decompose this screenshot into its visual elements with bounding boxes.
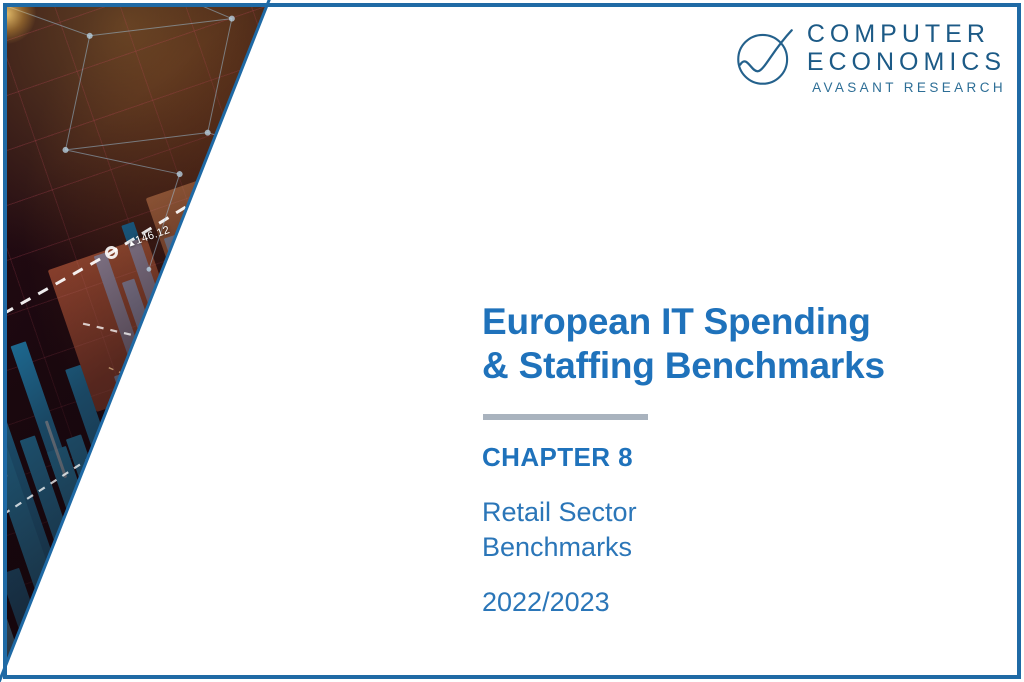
page-title-line-1: European IT Spending xyxy=(482,301,871,342)
circle-checkmark-icon xyxy=(731,25,797,91)
page-title-line-2: & Staffing Benchmarks xyxy=(482,345,885,386)
logo-line-economics: ECONOMICS xyxy=(807,50,1006,75)
chapter-label: CHAPTER 8 xyxy=(482,442,982,473)
triangle-up-icon: ▲ xyxy=(296,247,308,259)
triangle-up-icon: ▲ xyxy=(236,221,248,233)
title-divider xyxy=(483,414,648,420)
artwork-annotation: ▲4.58 xyxy=(354,186,386,206)
artwork-glow xyxy=(238,220,294,276)
page-title: European IT Spending & Staffing Benchmar… xyxy=(482,300,982,389)
cover-page: ▲146.12 ▲95.23 ▲285.25 ▲4.58 COMPUTER EC… xyxy=(0,0,1024,682)
artwork-orange-panel xyxy=(254,101,399,281)
artwork-orange-panel xyxy=(240,310,387,486)
artwork-orange-panel xyxy=(126,372,286,552)
chapter-title-line-1: Retail Sector xyxy=(482,497,637,527)
logo-line-avasant-research: AVASANT RESEARCH xyxy=(807,81,1006,95)
artwork-annotation: ▲95.23 xyxy=(236,211,276,235)
chapter-title-line-2: Benchmarks xyxy=(482,532,632,562)
artwork-annotation: ▲285.25 xyxy=(296,237,339,261)
chapter-title: Retail Sector Benchmarks xyxy=(482,495,982,565)
triangle-up-icon: ▲ xyxy=(354,193,366,205)
edition-year: 2022/2023 xyxy=(482,587,982,618)
logo-wordmark: COMPUTER ECONOMICS AVASANT RESEARCH xyxy=(807,22,1006,95)
logo-line-computer: COMPUTER xyxy=(807,22,1006,47)
cover-text-block: European IT Spending & Staffing Benchmar… xyxy=(482,300,982,618)
company-logo: COMPUTER ECONOMICS AVASANT RESEARCH xyxy=(731,22,1006,95)
